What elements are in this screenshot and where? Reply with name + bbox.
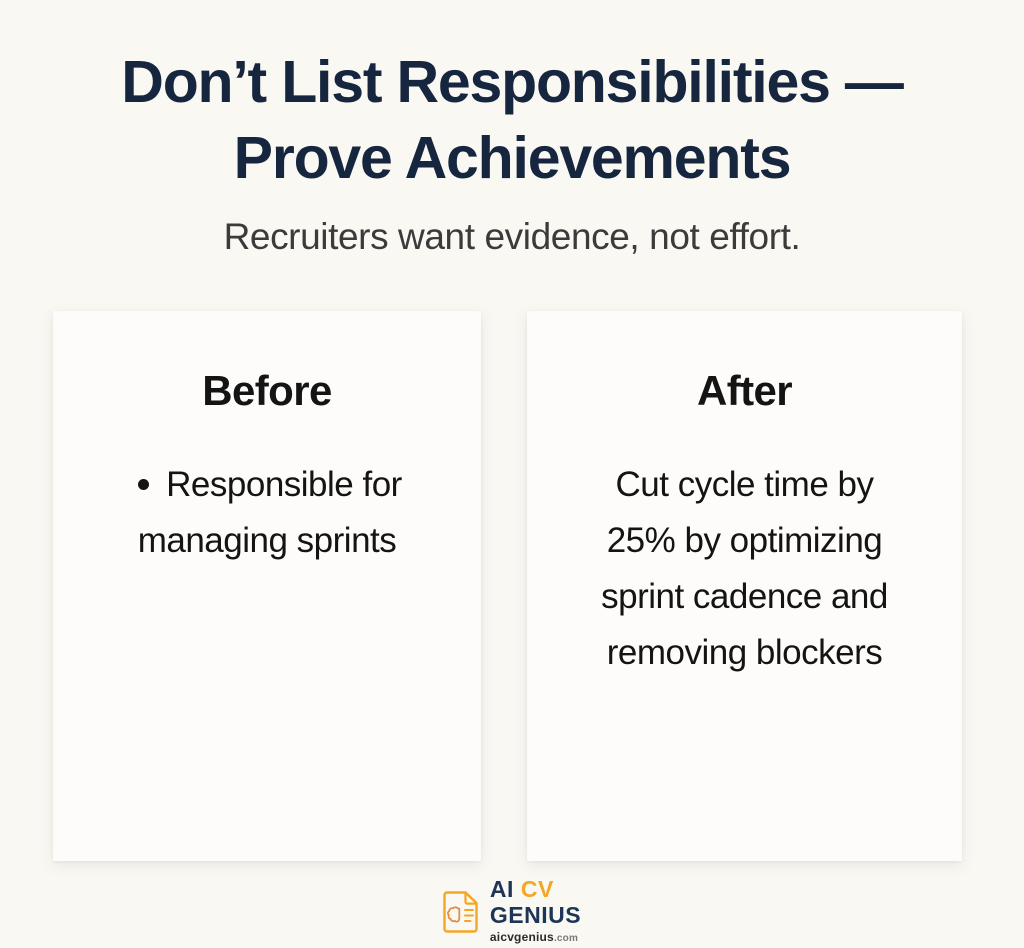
logo-cv-text: CV — [521, 878, 554, 901]
card-before: Before Responsible for managing sprints — [53, 311, 481, 861]
after-achievement-text: Cut cycle time by 25% by optimizing spri… — [549, 457, 940, 681]
page-title-line-1: Don’t List Responsibilities — — [40, 44, 984, 120]
logo-ai-text: AI — [490, 878, 514, 901]
logo-wordmark: AI CV GENIUS aicvgenius .com — [490, 878, 581, 944]
card-before-heading: Before — [75, 367, 459, 415]
logo-row-top: AI CV — [490, 878, 581, 901]
list-item: Responsible for managing sprints — [75, 457, 459, 569]
card-after: After Cut cycle time by 25% by optimizin… — [527, 311, 962, 861]
page-title-line-2: Prove Achievements — [40, 120, 984, 196]
list-item-label: Responsible for managing sprints — [138, 465, 402, 560]
page-title: Don’t List Responsibilities — Prove Achi… — [0, 44, 1024, 196]
before-bullet-list: Responsible for managing sprints — [75, 457, 459, 569]
logo-domain-text: aicvgenius — [490, 931, 554, 943]
card-before-body: Responsible for managing sprints — [75, 457, 459, 569]
card-after-heading: After — [549, 367, 940, 415]
bullet-dot-icon — [138, 479, 149, 490]
page-subtitle: Recruiters want evidence, not effort. — [0, 214, 1024, 260]
card-after-body: Cut cycle time by 25% by optimizing spri… — [549, 457, 940, 681]
footer-logo: AI CV GENIUS aicvgenius .com — [0, 878, 1024, 944]
header-block: Don’t List Responsibilities — Prove Achi… — [0, 0, 1024, 260]
slide-canvas: Don’t List Responsibilities — Prove Achi… — [0, 0, 1024, 948]
comparison-cards: Before Responsible for managing sprints … — [0, 311, 1024, 861]
document-brain-icon — [443, 889, 481, 933]
logo-tld-text: .com — [554, 934, 578, 944]
logo-genius-text: GENIUS — [490, 904, 581, 927]
logo-url: aicvgenius .com — [490, 931, 581, 944]
